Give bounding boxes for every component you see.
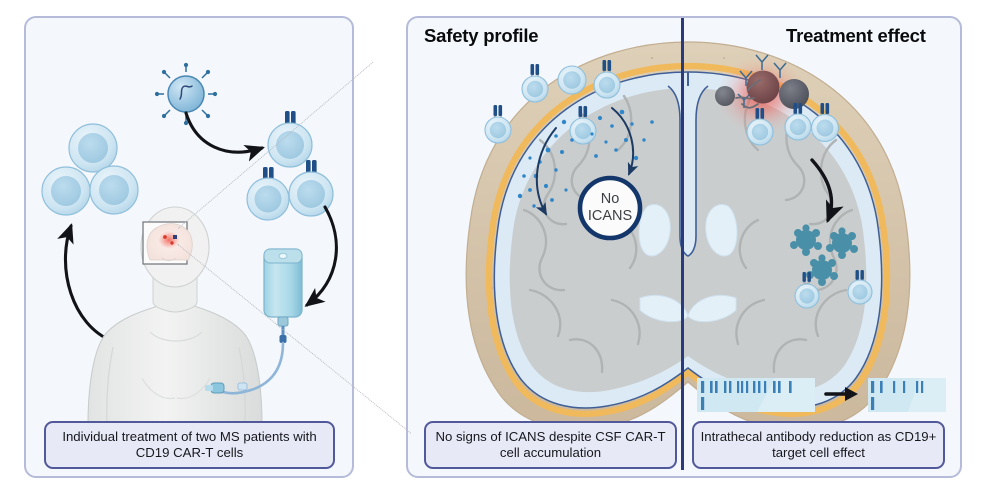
- figure-root: No ICANS: [0, 0, 982, 493]
- caption-safety-profile: No signs of ICANS despite CSF CAR-T cell…: [424, 421, 677, 469]
- safety-profile-title: Safety profile: [424, 25, 538, 47]
- hemisphere-divider: [681, 18, 684, 470]
- treatment-effect-title: Treatment effect: [786, 25, 926, 47]
- treatment-workflow-panel: [24, 16, 354, 478]
- caption-treatment-effect: Intrathecal antibody reduction as CD19+ …: [692, 421, 945, 469]
- caption-treatment-workflow: Individual treatment of two MS patients …: [44, 421, 335, 469]
